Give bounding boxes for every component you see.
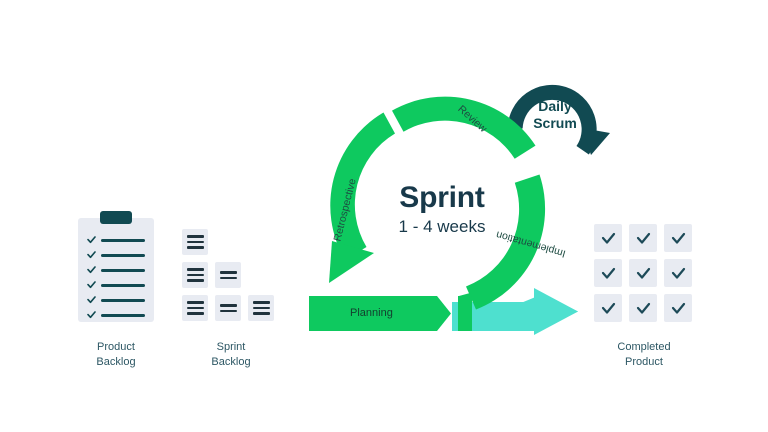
checkmark-icon (87, 311, 96, 319)
clipboard-line (101, 269, 145, 272)
completed-product-icon[interactable] (594, 224, 694, 329)
product-backlog-icon[interactable] (78, 218, 154, 322)
card-line (187, 241, 204, 244)
card-line (253, 312, 270, 315)
checkbox-item (594, 294, 622, 322)
card-line (220, 304, 237, 307)
card-line (187, 301, 204, 304)
checkmark-icon (636, 267, 651, 280)
daily-scrum-label: Daily Scrum (520, 98, 590, 132)
sprint-backlog-label: Sprint Backlog (176, 340, 286, 370)
card-line (220, 277, 237, 280)
clipboard-row (87, 311, 145, 319)
clipboard-row (87, 236, 145, 244)
checkmark-icon (601, 302, 616, 315)
backlog-card (182, 262, 208, 288)
card-line (187, 235, 204, 238)
clipboard-line (101, 284, 145, 287)
card-line (220, 271, 237, 274)
clipboard-rows (87, 236, 145, 319)
checkmark-icon (87, 281, 96, 289)
checkbox-item (664, 294, 692, 322)
backlog-card (215, 262, 241, 288)
card-line (187, 307, 204, 310)
backlog-card (215, 295, 241, 321)
diagram-canvas: Product Backlog (0, 0, 768, 432)
checkmark-icon (671, 232, 686, 245)
backlog-card (248, 295, 274, 321)
backlog-row (182, 295, 280, 321)
product-backlog-label: Product Backlog (60, 340, 172, 370)
card-line (187, 312, 204, 315)
clipboard-icon (78, 218, 154, 322)
checkmark-icon (87, 236, 96, 244)
backlog-row (182, 262, 280, 288)
checkbox-item (664, 224, 692, 252)
checkbox-item (594, 224, 622, 252)
clipboard-clip (100, 211, 132, 224)
clipboard-line (101, 314, 145, 317)
checkmark-icon (87, 251, 96, 259)
card-line (220, 310, 237, 313)
completed-product-label: Completed Product (588, 340, 700, 370)
checkbox-item (664, 259, 692, 287)
backlog-row (182, 229, 280, 255)
card-line (187, 246, 204, 249)
segment-label-planning: Planning (350, 307, 393, 319)
check-row (594, 259, 694, 287)
check-row (594, 294, 694, 322)
checkmark-icon (601, 267, 616, 280)
card-line (253, 307, 270, 310)
checkmark-icon (87, 296, 96, 304)
card-line (187, 279, 204, 282)
clipboard-line (101, 299, 145, 302)
clipboard-row (87, 281, 145, 289)
check-row (594, 224, 694, 252)
clipboard-row (87, 251, 145, 259)
backlog-card (182, 229, 208, 255)
checkbox-item (629, 294, 657, 322)
checkmark-icon (671, 267, 686, 280)
clipboard-row (87, 296, 145, 304)
checkmark-icon (636, 302, 651, 315)
sprint-backlog-icon[interactable] (182, 229, 280, 328)
segment-retrospective[interactable] (329, 113, 395, 284)
checkmark-icon (601, 232, 616, 245)
clipboard-line (101, 239, 145, 242)
checkbox-item (629, 259, 657, 287)
clipboard-line (101, 254, 145, 257)
checkbox-item (629, 224, 657, 252)
checkbox-item (594, 259, 622, 287)
card-line (253, 301, 270, 304)
checkmark-icon (636, 232, 651, 245)
checkmark-icon (87, 266, 96, 274)
card-line (187, 268, 204, 271)
clipboard-row (87, 266, 145, 274)
checkmark-icon (671, 302, 686, 315)
card-line (187, 274, 204, 277)
backlog-card (182, 295, 208, 321)
